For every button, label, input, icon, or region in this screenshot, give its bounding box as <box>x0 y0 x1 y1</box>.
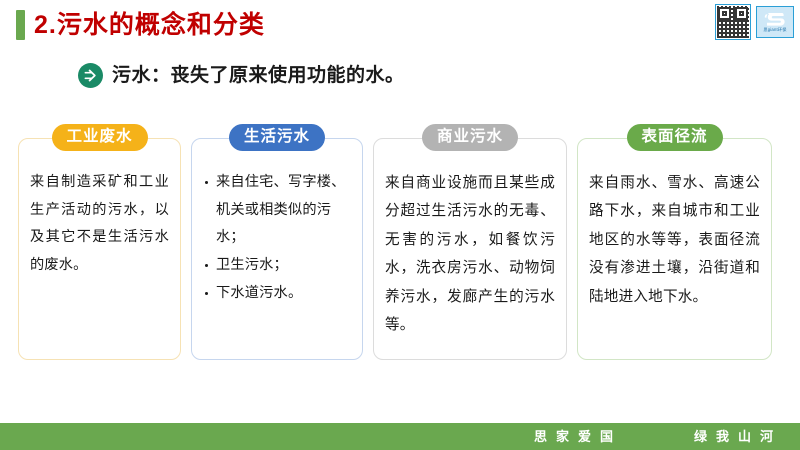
arrow-right-glyph <box>83 68 98 83</box>
footer-bar: 思家爱国 绿我山河 <box>0 423 800 450</box>
list-item: 来自住宅、写字楼、机关或相类似的污水； <box>203 169 351 252</box>
list-item: 下水道污水。 <box>203 280 351 308</box>
card-body-domestic-sewage: 来自住宅、写字楼、机关或相类似的污水； 卫生污水； 下水道污水。 <box>203 169 351 307</box>
card-title-domestic-sewage: 生活污水 <box>229 124 325 151</box>
card-commercial-sewage[interactable]: 商业污水 来自商业设施而且某些成分超过生活污水的无毒、无害的污水，如餐饮污水，洗… <box>373 138 567 360</box>
card-title-surface-runoff: 表面径流 <box>626 124 722 151</box>
footer-slogan-left: 思家爱国 <box>534 430 622 443</box>
card-surface-runoff[interactable]: 表面径流 来自雨水、雪水、高速公路下水，来自城市和工业地区的水等等，表面径流没有… <box>577 138 772 360</box>
qr-code-pattern <box>717 6 749 38</box>
footer-slogan-right: 绿我山河 <box>694 430 782 443</box>
card-industrial-wastewater[interactable]: 工业废水 来自制造采矿和工业生产活动的污水，以及其它不是生活污水的废水。 <box>18 138 181 360</box>
list-item: 卫生污水； <box>203 252 351 280</box>
title-text: 2.污水的概念和分类 <box>34 13 265 38</box>
card-title-industrial-wastewater: 工业废水 <box>51 124 147 151</box>
logo-caption: 思giant环保 <box>763 28 786 32</box>
circle-arrow-right-icon <box>78 63 103 88</box>
subtitle-text: 污水：丧失了原来使用功能的水。 <box>112 66 405 85</box>
page-title: 2.污水的概念和分类 <box>16 10 265 40</box>
company-logo-icon[interactable]: 思giant环保 <box>756 6 794 38</box>
qr-code-icon[interactable] <box>715 4 751 40</box>
brand-cluster: 思giant环保 <box>715 4 794 40</box>
card-body-surface-runoff: 来自雨水、雪水、高速公路下水，来自城市和工业地区的水等等，表面径流没有渗进土壤，… <box>589 169 760 311</box>
card-domestic-sewage[interactable]: 生活污水 来自住宅、写字楼、机关或相类似的污水； 卫生污水； 下水道污水。 <box>191 138 363 360</box>
card-title-commercial-sewage: 商业污水 <box>422 124 518 151</box>
subtitle: 污水：丧失了原来使用功能的水。 <box>78 63 405 88</box>
title-accent-bar <box>16 10 25 40</box>
category-cards: 工业废水 来自制造采矿和工业生产活动的污水，以及其它不是生活污水的废水。 生活污… <box>18 138 782 360</box>
card-body-industrial-wastewater: 来自制造采矿和工业生产活动的污水，以及其它不是生活污水的废水。 <box>30 169 169 280</box>
card-body-commercial-sewage: 来自商业设施而且某些成分超过生活污水的无毒、无害的污水，如餐饮污水，洗衣房污水、… <box>385 169 555 340</box>
logo-swoosh-icon <box>764 11 786 28</box>
